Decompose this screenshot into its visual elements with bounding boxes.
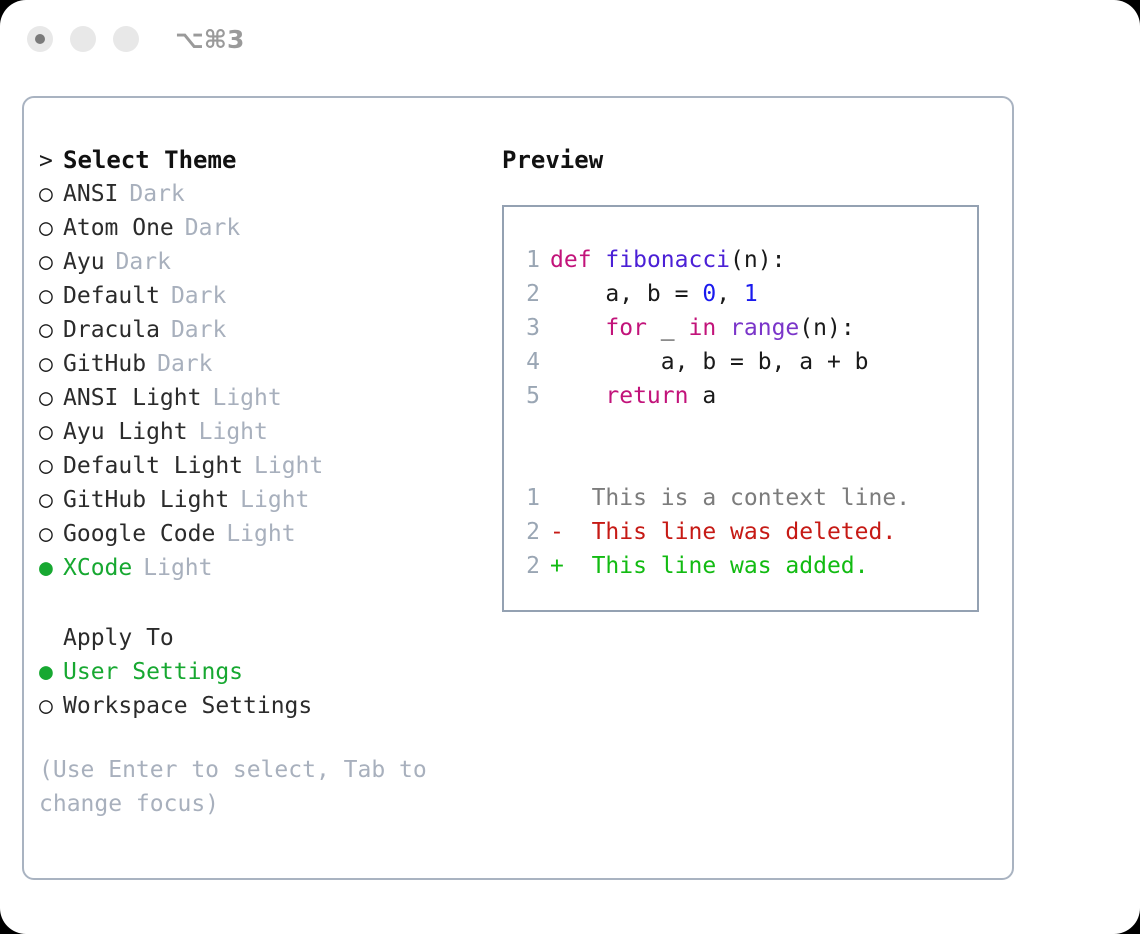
diff-line-number: 1	[504, 481, 550, 515]
code-token	[550, 311, 605, 345]
code-token: for	[605, 311, 647, 345]
apply-to-title: Apply To	[63, 621, 174, 655]
diff-text	[564, 515, 592, 549]
theme-name: Default Light	[63, 449, 243, 483]
window-controls	[27, 26, 139, 52]
theme-option-google-code[interactable]: ○Google CodeLight	[39, 517, 479, 551]
code-token: 1	[744, 277, 758, 311]
code-diff-separator-2	[504, 447, 977, 481]
radio-selected-icon[interactable]: ●	[39, 655, 63, 689]
theme-option-dracula-dark[interactable]: ○DraculaDark	[39, 313, 479, 347]
diff-text: This line was deleted.	[592, 515, 897, 549]
select-theme-title: Select Theme	[63, 143, 236, 177]
radio-icon[interactable]: ○	[39, 177, 63, 211]
code-line-number: 3	[504, 311, 550, 345]
theme-variant: Dark	[185, 211, 240, 245]
diff-line-number: 2	[504, 515, 550, 549]
theme-variant: Light	[199, 415, 268, 449]
diff-line-deleted: 2- This line was deleted.	[504, 515, 977, 549]
preview-panel-container: Preview 1def fibonacci(n): 2 a, b = 0, 1…	[502, 143, 997, 612]
code-line: 3 for _ in range(n):	[504, 311, 977, 345]
theme-name: ANSI	[63, 177, 118, 211]
theme-variant: Light	[226, 517, 295, 551]
theme-option-github-light[interactable]: ○GitHub LightLight	[39, 483, 479, 517]
apply-to-heading: ○Apply To	[39, 621, 479, 655]
radio-selected-icon[interactable]: ●	[39, 551, 63, 585]
diff-line-context: 1 This is a context line.	[504, 481, 977, 515]
radio-icon[interactable]: ○	[39, 517, 63, 551]
code-line-number: 1	[504, 243, 550, 277]
radio-icon[interactable]: ○	[39, 313, 63, 347]
theme-variant: Light	[240, 483, 309, 517]
keyboard-hint-text: (Use Enter to select, Tab to change focu…	[39, 753, 454, 821]
spacer-icon: ○	[39, 621, 63, 655]
code-token	[550, 379, 605, 413]
code-token: return	[605, 379, 688, 413]
code-token	[716, 311, 730, 345]
code-line-number: 4	[504, 345, 550, 379]
theme-option-ansi-dark[interactable]: ○ANSIDark	[39, 177, 479, 211]
apply-to-option-user-settings[interactable]: ●User Settings	[39, 655, 479, 689]
theme-name: Dracula	[63, 313, 160, 347]
theme-name: GitHub	[63, 347, 146, 381]
theme-name: Ayu	[63, 245, 105, 279]
diff-text	[564, 481, 592, 515]
heading-caret-icon: >	[39, 144, 63, 178]
record-dot-inner	[35, 34, 45, 44]
theme-name: XCode	[63, 551, 132, 585]
theme-variant: Dark	[157, 347, 212, 381]
code-token: 0	[702, 277, 716, 311]
radio-icon[interactable]: ○	[39, 415, 63, 449]
diff-text: This line was added.	[592, 549, 869, 583]
code-token: a, b = b, a + b	[550, 345, 869, 379]
diff-line-added: 2+ This line was added.	[504, 549, 977, 583]
theme-option-ansi-light[interactable]: ○ANSI LightLight	[39, 381, 479, 415]
radio-icon[interactable]: ○	[39, 483, 63, 517]
radio-icon[interactable]: ○	[39, 689, 63, 723]
apply-to-label: User Settings	[63, 655, 243, 689]
select-theme-heading: >Select Theme	[39, 143, 479, 177]
code-line: 1def fibonacci(n):	[504, 243, 977, 277]
code-token: (n):	[730, 243, 785, 277]
theme-name: Google Code	[63, 517, 215, 551]
record-dot-icon[interactable]	[27, 26, 53, 52]
theme-name: Atom One	[63, 211, 174, 245]
theme-option-github-dark[interactable]: ○GitHubDark	[39, 347, 479, 381]
theme-name: Default	[63, 279, 160, 313]
theme-option-xcode-light[interactable]: ●XCodeLight	[39, 551, 479, 585]
shortcut-label: ⌥⌘3	[175, 27, 244, 52]
code-token: def	[550, 243, 592, 277]
code-token: (n):	[799, 311, 854, 345]
theme-selector-panel: >Select Theme ○ANSIDark ○Atom OneDark ○A…	[39, 143, 479, 821]
apply-to-option-workspace-settings[interactable]: ○Workspace Settings	[39, 689, 479, 723]
radio-icon[interactable]: ○	[39, 449, 63, 483]
diff-marker: -	[550, 515, 564, 549]
theme-option-ayu-light[interactable]: ○Ayu LightLight	[39, 415, 479, 449]
preview-title: Preview	[502, 143, 997, 177]
diff-text	[564, 549, 592, 583]
code-token: in	[688, 311, 716, 345]
code-token: a, b =	[550, 277, 702, 311]
theme-variant: Dark	[171, 279, 226, 313]
code-diff-separator	[504, 413, 977, 447]
theme-name: GitHub Light	[63, 483, 229, 517]
radio-icon[interactable]: ○	[39, 245, 63, 279]
code-token: ,	[716, 277, 744, 311]
theme-variant: Dark	[129, 177, 184, 211]
code-line-number: 2	[504, 277, 550, 311]
diff-marker	[550, 481, 564, 515]
code-token: fibonacci	[605, 243, 730, 277]
theme-name: Ayu Light	[63, 415, 188, 449]
theme-variant: Light	[254, 449, 323, 483]
theme-variant: Dark	[171, 313, 226, 347]
theme-variant: Light	[143, 551, 212, 585]
theme-variant: Light	[212, 381, 281, 415]
code-line: 5 return a	[504, 379, 977, 413]
radio-icon[interactable]: ○	[39, 211, 63, 245]
theme-option-atom-one-dark[interactable]: ○Atom OneDark	[39, 211, 479, 245]
title-bar: ⌥⌘3	[0, 0, 1140, 78]
radio-icon[interactable]: ○	[39, 347, 63, 381]
content-window: >Select Theme ○ANSIDark ○Atom OneDark ○A…	[22, 96, 1014, 880]
section-spacer	[39, 585, 479, 621]
code-line: 2 a, b = 0, 1	[504, 277, 977, 311]
radio-icon[interactable]: ○	[39, 279, 63, 313]
code-token: _	[647, 311, 689, 345]
app-window: ⌥⌘3 >Select Theme ○ANSIDark ○Atom OneDar…	[0, 0, 1140, 934]
theme-variant: Dark	[116, 245, 171, 279]
code-line-number: 5	[504, 379, 550, 413]
theme-name: ANSI Light	[63, 381, 201, 415]
preview-code-box: 1def fibonacci(n): 2 a, b = 0, 1 3 for _…	[502, 205, 979, 612]
theme-option-default-dark[interactable]: ○DefaultDark	[39, 279, 479, 313]
code-token	[592, 243, 606, 277]
diff-line-number: 2	[504, 549, 550, 583]
radio-icon[interactable]: ○	[39, 381, 63, 415]
diff-marker: +	[550, 549, 564, 583]
theme-option-ayu-dark[interactable]: ○AyuDark	[39, 245, 479, 279]
apply-to-label: Workspace Settings	[63, 689, 312, 723]
dot-three-icon[interactable]	[113, 26, 139, 52]
theme-option-default-light[interactable]: ○Default LightLight	[39, 449, 479, 483]
code-line: 4 a, b = b, a + b	[504, 345, 977, 379]
code-token: range	[730, 311, 799, 345]
dot-two-icon[interactable]	[70, 26, 96, 52]
diff-text: This is a context line.	[592, 481, 911, 515]
code-token: a	[688, 379, 716, 413]
